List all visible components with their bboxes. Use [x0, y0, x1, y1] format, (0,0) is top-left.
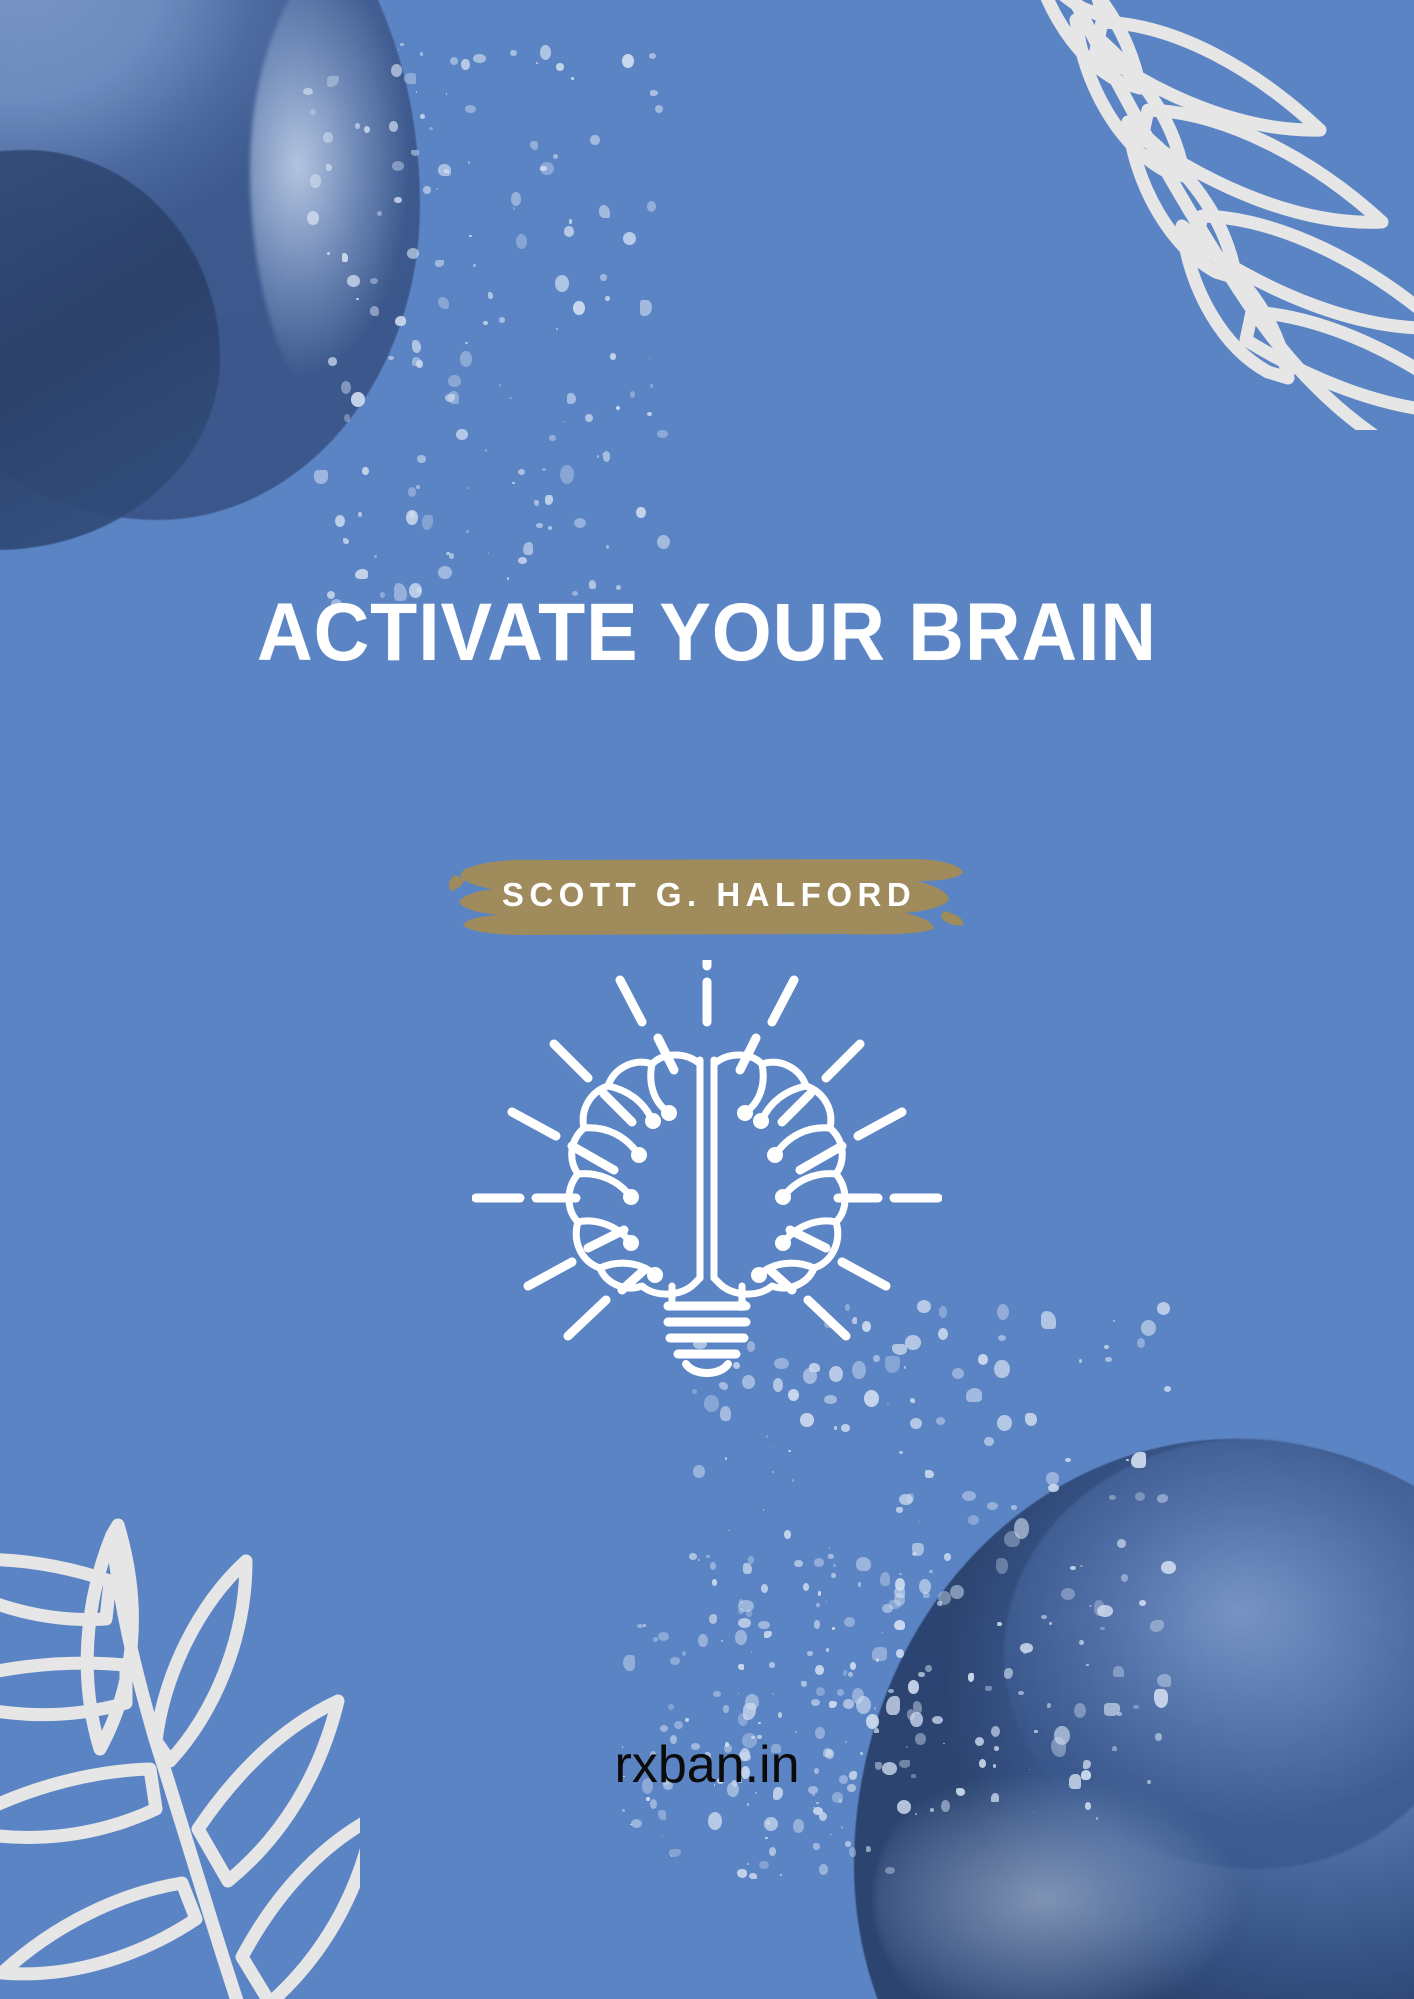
leaf-frond-top-right-icon [1024, 0, 1414, 430]
leaf-frond-bottom-left-icon [0, 1469, 360, 1999]
watercolor-blob-bottom-right-inner [1004, 1439, 1414, 1869]
watercolor-blob-top-left-dark [0, 150, 220, 550]
watercolor-blob-bottom-right [854, 1439, 1414, 1999]
brain-lightbulb-icon [472, 960, 942, 1380]
paint-splatter-bottom-center [620, 1549, 920, 1879]
watercolor-edge-top-left [250, 0, 490, 440]
author-banner: SCOTT G. HALFORD [0, 840, 1414, 950]
paint-splatter-top-left [300, 40, 660, 600]
footer-url: rxban.in [0, 1735, 1414, 1795]
author-name: SCOTT G. HALFORD [498, 876, 916, 914]
book-title: ACTIVATE YOUR BRAIN [42, 592, 1371, 674]
watercolor-blob-top-left [0, 0, 420, 520]
book-cover: ACTIVATE YOUR BRAIN SCOTT G. HALFORD [0, 0, 1414, 1999]
